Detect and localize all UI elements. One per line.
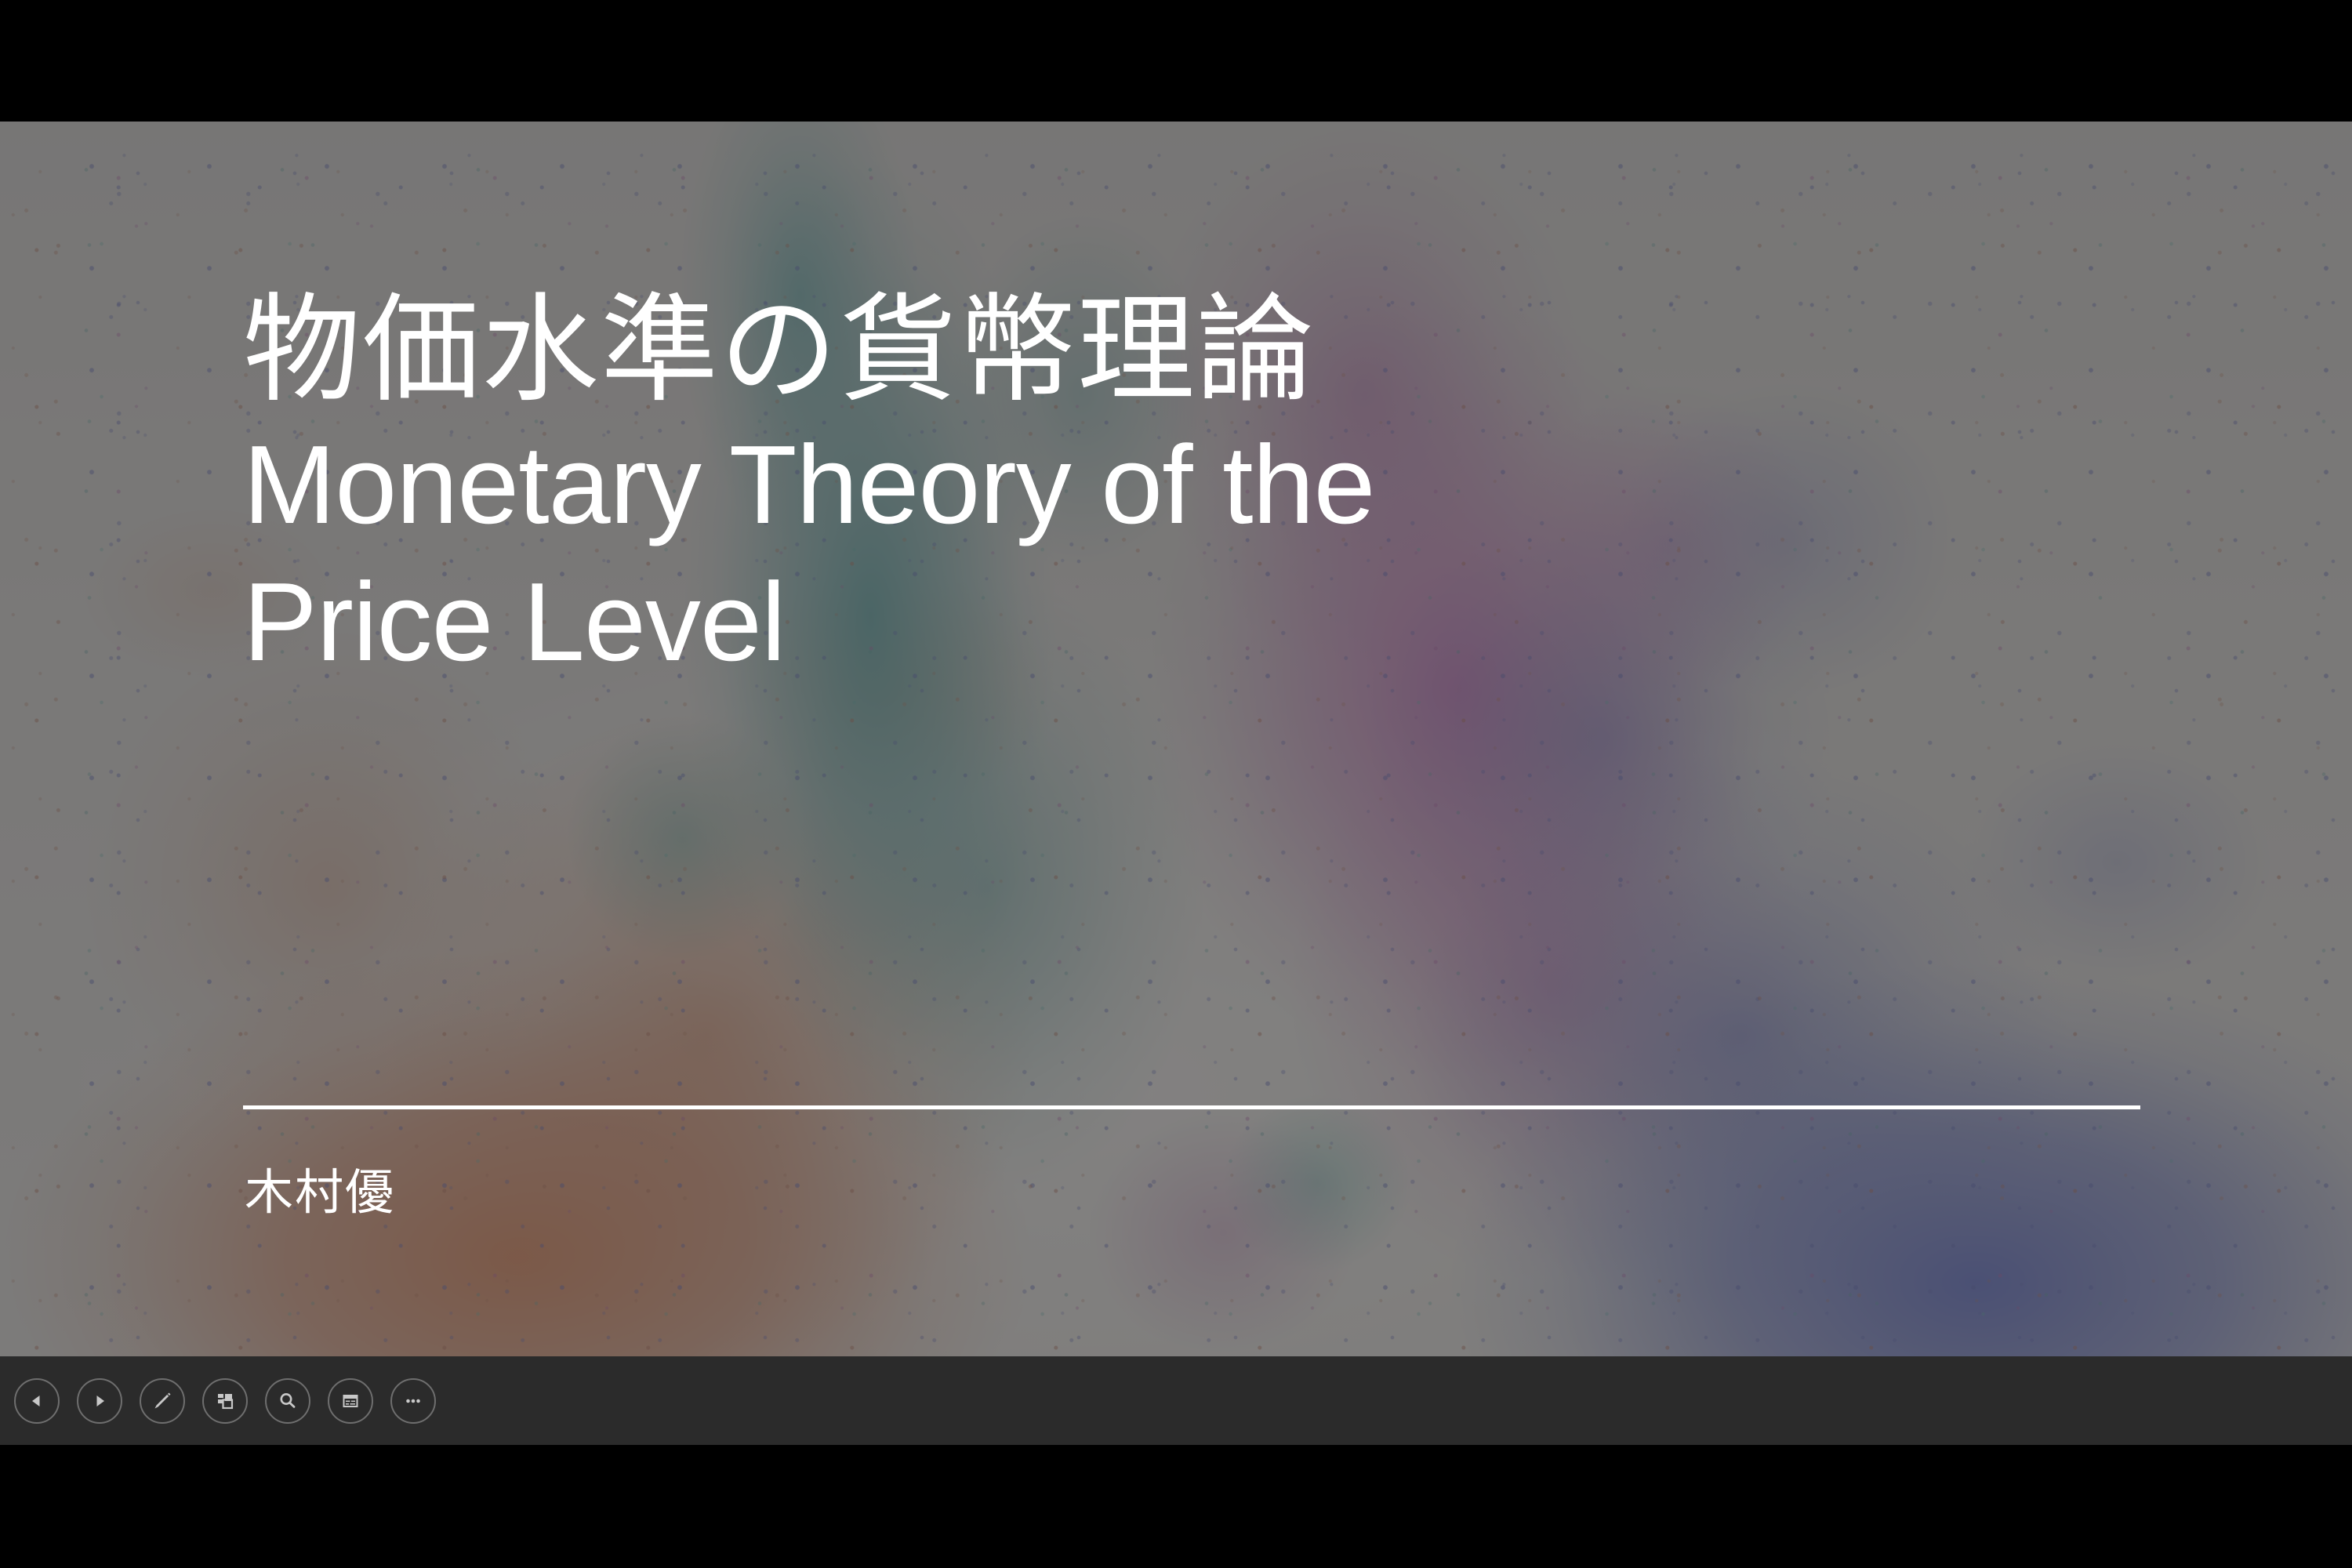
- slide-title-japanese: 物価水準の貨幣理論: [243, 290, 2164, 410]
- grid-icon: [213, 1389, 237, 1413]
- pen-icon: [150, 1388, 175, 1414]
- next-slide-button[interactable]: [77, 1378, 122, 1424]
- letterbox-bottom: [0, 1445, 2352, 1568]
- title-block: 物価水準の貨幣理論 Monetary Theory of the Price L…: [243, 290, 2164, 684]
- subtitles-icon: [339, 1389, 362, 1413]
- slideshow-window: 物価水準の貨幣理論 Monetary Theory of the Price L…: [0, 0, 2352, 1568]
- slide-author-name: 木村優: [245, 1164, 395, 1222]
- previous-icon: [27, 1391, 47, 1411]
- slide-canvas[interactable]: 物価水準の貨幣理論 Monetary Theory of the Price L…: [0, 122, 2352, 1356]
- slide-title-english-line-1: Monetary Theory of the: [243, 423, 2164, 547]
- all-slides-button[interactable]: [202, 1378, 248, 1424]
- magnifier-icon: [276, 1389, 299, 1413]
- title-divider-rule: [243, 1105, 2140, 1109]
- slide-title-english-line-2: Price Level: [243, 560, 2164, 684]
- letterbox-top: [0, 0, 2352, 122]
- pen-tools-button[interactable]: [140, 1378, 185, 1424]
- next-icon: [89, 1391, 110, 1411]
- zoom-slide-button[interactable]: [265, 1378, 310, 1424]
- previous-slide-button[interactable]: [14, 1378, 60, 1424]
- subtitles-button[interactable]: [328, 1378, 373, 1424]
- more-options-button[interactable]: [390, 1378, 436, 1424]
- ellipsis-icon: [401, 1389, 425, 1413]
- slideshow-toolbar: [0, 1356, 2352, 1445]
